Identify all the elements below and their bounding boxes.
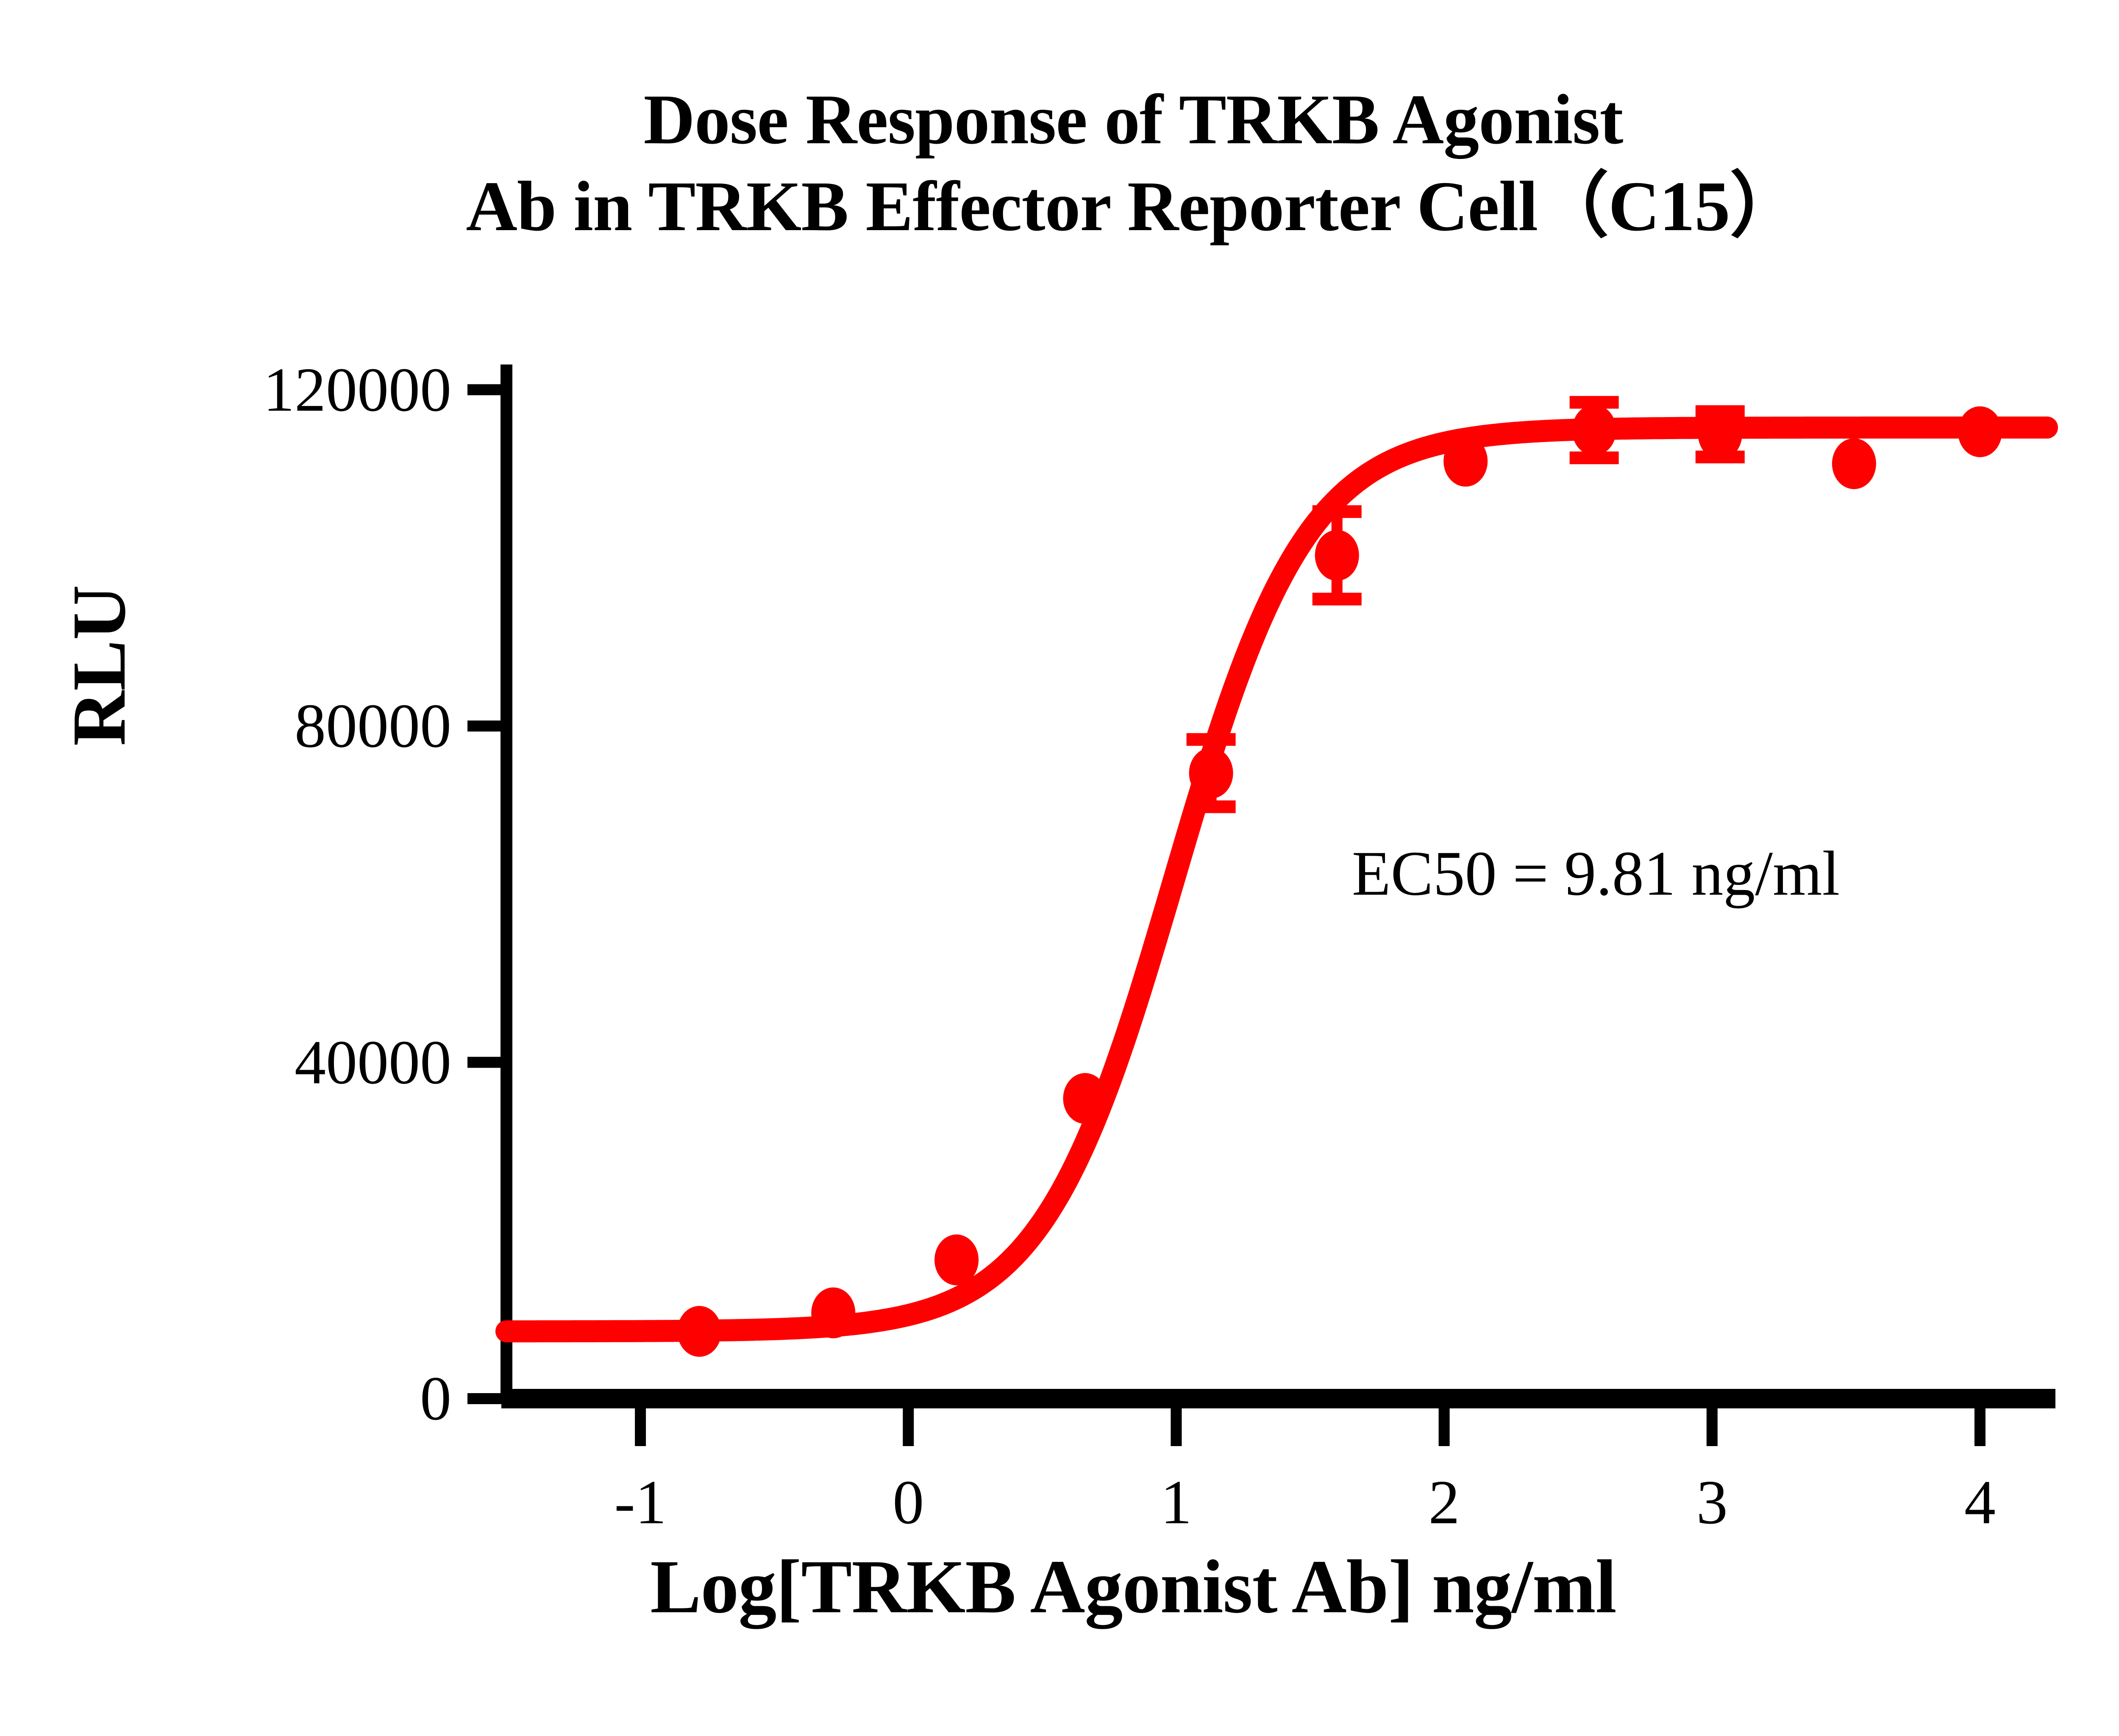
data-point-5[interactable] bbox=[1315, 530, 1359, 581]
data-point-9[interactable] bbox=[1832, 438, 1876, 489]
x-tick-label-3: 2 bbox=[1429, 1466, 1460, 1538]
y-tick-label-2: 80000 bbox=[295, 690, 451, 762]
data-point-0[interactable] bbox=[677, 1306, 721, 1357]
data-point-1[interactable] bbox=[811, 1288, 855, 1338]
ec50-annotation: EC50 = 9.81 ng/ml bbox=[1352, 837, 1840, 910]
chart-figure: Dose Response of TRKB Agonist Ab in TRKB… bbox=[0, 0, 2119, 1736]
data-point-2[interactable] bbox=[934, 1235, 979, 1285]
data-point-10[interactable] bbox=[1958, 406, 2002, 457]
y-tick-label-3: 120000 bbox=[263, 354, 451, 426]
x-tick-label-5: 4 bbox=[1964, 1466, 1996, 1538]
y-tick-label-0: 0 bbox=[420, 1363, 451, 1435]
data-point-3[interactable] bbox=[1063, 1073, 1107, 1124]
data-point-7[interactable] bbox=[1572, 405, 1616, 456]
x-axis-label: Log[TRKB Agonist Ab] ng/ml bbox=[0, 1543, 2119, 1630]
x-tick-label-2: 1 bbox=[1160, 1466, 1192, 1538]
data-point-6[interactable] bbox=[1443, 436, 1488, 487]
data-point-4[interactable] bbox=[1189, 748, 1233, 798]
y-tick-label-1: 40000 bbox=[295, 1027, 451, 1099]
x-tick-label-0: -1 bbox=[614, 1466, 666, 1538]
x-tick-label-4: 3 bbox=[1696, 1466, 1728, 1538]
y-axis-label: RLU bbox=[55, 585, 143, 746]
data-point-8[interactable] bbox=[1698, 409, 1742, 460]
x-tick-label-1: 0 bbox=[893, 1466, 924, 1538]
